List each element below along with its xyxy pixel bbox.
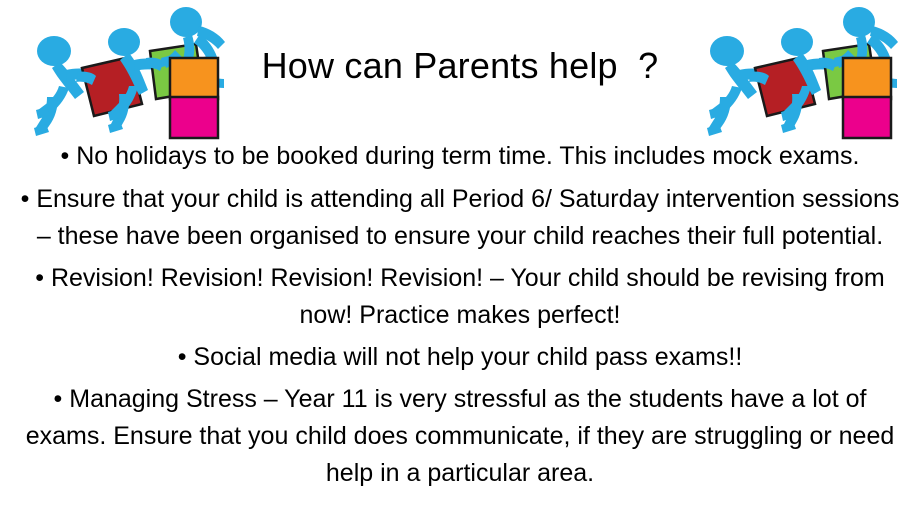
clipart-right: [695, 2, 900, 140]
page-title: How can Parents help ?: [230, 44, 690, 88]
bullet-item-revision: • Revision! Revision! Revision! Revision…: [18, 260, 902, 334]
bullet-list: • No holidays to be booked during term t…: [18, 138, 902, 492]
slide-canvas: How can Parents help ? • No holidays to …: [0, 0, 920, 517]
clipart-left: [22, 2, 227, 140]
stick-figure-1: [34, 36, 92, 136]
bullet-item-social-media: • Social media will not help your child …: [18, 339, 902, 376]
bullet-item-managing-stress: • Managing Stress – Year 11 is very stre…: [18, 381, 902, 492]
box-pink: [843, 97, 891, 138]
box-pink: [170, 97, 218, 138]
box-orange: [170, 58, 218, 99]
box-orange: [843, 58, 891, 99]
stick-figure-1: [707, 36, 765, 136]
bullet-item-intervention: • Ensure that your child is attending al…: [18, 181, 902, 255]
bullet-item-holidays: • No holidays to be booked during term t…: [18, 138, 902, 175]
